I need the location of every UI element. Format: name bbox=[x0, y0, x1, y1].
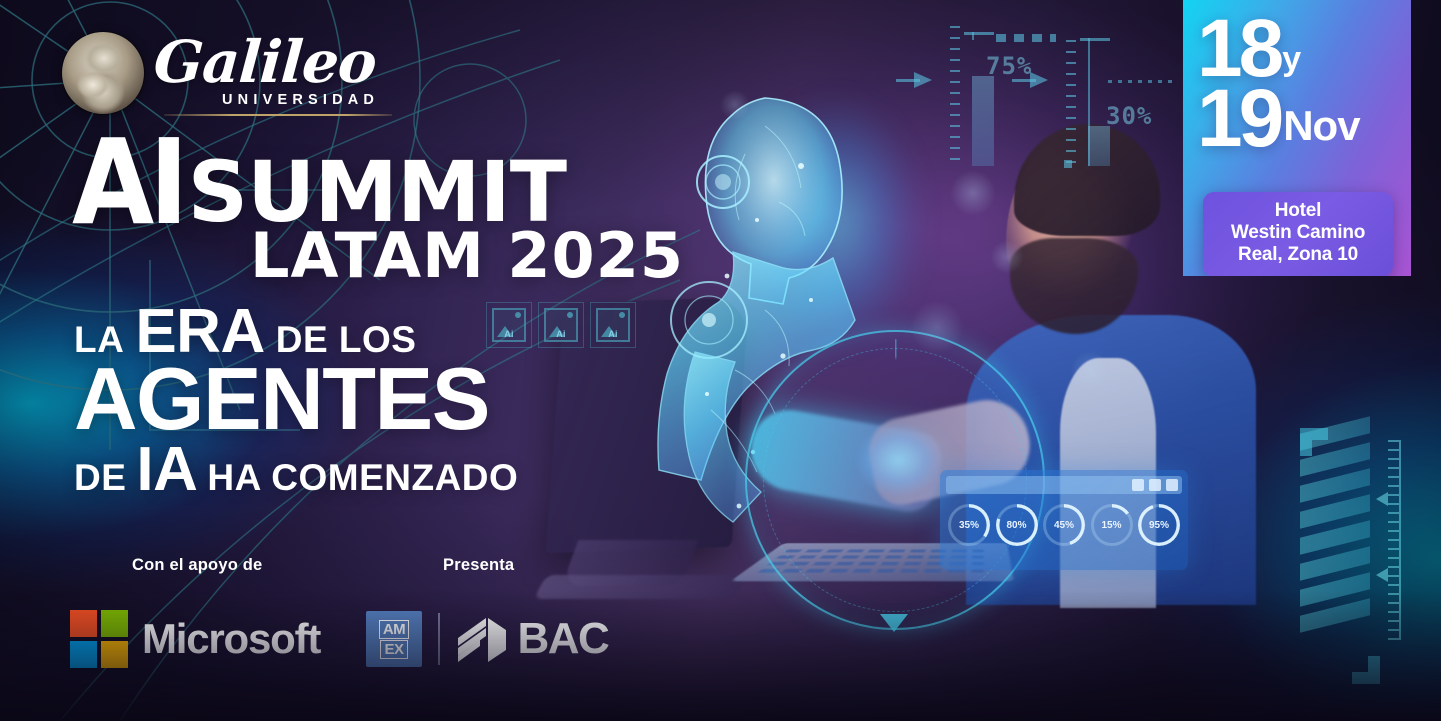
venue-line-2: Westin Camino bbox=[1211, 222, 1385, 244]
event-date-strip: 18 y 19 Nov Hotel Westin Camino Real, Zo… bbox=[1183, 0, 1411, 276]
event-dates: 18 y 19 Nov bbox=[1197, 16, 1397, 151]
galileo-wordmark: Galileo bbox=[152, 28, 379, 96]
corner-bracket-bottom bbox=[1352, 656, 1380, 684]
tagline-ha-comenzado: HA COMENZADO bbox=[207, 457, 518, 499]
title-latam-year: LATAM 2025 bbox=[250, 219, 692, 292]
bac-wordmark: BAC bbox=[518, 614, 609, 664]
progress-ring-value: 95% bbox=[1149, 520, 1169, 531]
progress-rings-row: 35%80%45%15%95% bbox=[948, 504, 1180, 546]
progress-ring: 95% bbox=[1138, 504, 1180, 546]
progress-ring: 80% bbox=[996, 504, 1038, 546]
decorative-ruler-scale bbox=[1388, 440, 1402, 640]
galileo-university-logo[interactable]: Galileo UNIVERSIDAD bbox=[62, 26, 382, 118]
stats-panel-window-dots bbox=[1132, 479, 1178, 491]
hud-gauge-30: 30% bbox=[1040, 18, 1190, 174]
gauge-value-2: 30% bbox=[1106, 102, 1152, 130]
corner-bracket-top bbox=[1300, 428, 1328, 456]
progress-ring-value: 45% bbox=[1054, 520, 1074, 531]
tagline-de: DE bbox=[74, 457, 126, 499]
hud-ring-pointer bbox=[880, 614, 908, 632]
galileo-bust-medallion-icon bbox=[62, 32, 144, 114]
hud-gauge-75: 75% bbox=[920, 18, 1060, 174]
progress-ring: 35% bbox=[948, 504, 990, 546]
support-label: Con el apoyo de bbox=[132, 556, 262, 575]
logo-gold-rule bbox=[164, 114, 392, 116]
hud-stats-panel: 35%80%45%15%95% bbox=[940, 470, 1188, 570]
sponsors-section: Con el apoyo de Presenta Microsoft AM EX bbox=[70, 556, 670, 686]
bac-logo[interactable]: BAC bbox=[456, 614, 609, 664]
event-title: AI SUMMIT LATAM 2025 bbox=[72, 134, 692, 292]
event-tagline: LA ERA DE LOS AGENTES DE IA HA COMENZADO bbox=[74, 296, 694, 505]
progress-ring-value: 15% bbox=[1101, 520, 1121, 531]
microsoft-logo[interactable]: Microsoft bbox=[70, 608, 330, 670]
microsoft-squares-icon bbox=[70, 610, 128, 668]
progress-ring-value: 80% bbox=[1006, 520, 1026, 531]
microsoft-wordmark: Microsoft bbox=[142, 615, 320, 663]
tagline-ia: IA bbox=[136, 434, 197, 505]
date-day-2: 19 bbox=[1197, 86, 1280, 152]
presents-label: Presenta bbox=[443, 556, 514, 575]
progress-ring: 45% bbox=[1043, 504, 1085, 546]
date-day-1: 18 bbox=[1197, 16, 1280, 82]
venue-line-1: Hotel bbox=[1211, 200, 1385, 222]
date-conjunction: y bbox=[1282, 42, 1301, 76]
gauge-value-1: 75% bbox=[986, 52, 1032, 80]
tagline-agentes: AGENTES bbox=[74, 359, 489, 440]
amex-line-2: EX bbox=[380, 640, 407, 659]
venue-badge: Hotel Westin Camino Real, Zona 10 bbox=[1203, 192, 1393, 276]
sponsor-divider bbox=[438, 613, 440, 665]
ai-summit-latam-banner: 75% 30% Ai Ai Ai bbox=[0, 0, 1441, 721]
venue-line-3: Real, Zona 10 bbox=[1211, 244, 1385, 266]
title-ai: AI bbox=[72, 134, 184, 231]
universidad-label: UNIVERSIDAD bbox=[222, 92, 379, 108]
progress-ring: 15% bbox=[1091, 504, 1133, 546]
amex-logo[interactable]: AM EX bbox=[366, 611, 422, 667]
decorative-stripes bbox=[1300, 425, 1370, 675]
date-month: Nov bbox=[1283, 105, 1359, 147]
bac-shield-icon bbox=[456, 616, 508, 662]
amex-line-1: AM bbox=[379, 620, 409, 639]
presenting-sponsors: AM EX BAC bbox=[366, 608, 608, 670]
title-summit: SUMMIT bbox=[188, 158, 566, 227]
progress-ring-value: 35% bbox=[959, 520, 979, 531]
